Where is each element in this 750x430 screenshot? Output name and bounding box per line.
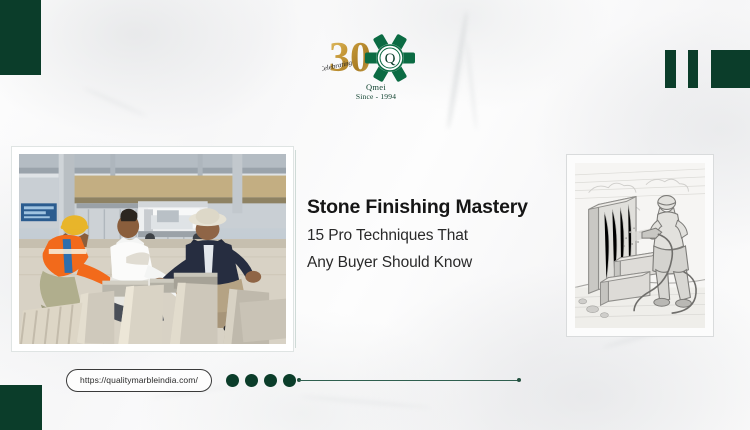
decorative-dot	[226, 374, 239, 387]
footer-rule	[299, 380, 519, 381]
photo-card	[11, 146, 294, 352]
logo-wordmark: Qmei Since - 1994	[322, 83, 430, 101]
rule-endpoint-right	[517, 378, 521, 382]
corner-block-bottom-left	[0, 385, 42, 430]
decorative-dot	[283, 374, 296, 387]
accent-bar-wide	[711, 50, 750, 88]
logo-artwork: 30 Celebrating Q	[322, 28, 430, 90]
accent-bar-narrow-2	[688, 50, 698, 88]
page-subtitle-line-2: Any Buyer Should Know	[307, 251, 539, 275]
headline-block: Stone Finishing Mastery 15 Pro Technique…	[307, 194, 539, 275]
website-url-pill[interactable]: https://qualitymarbleindia.com/	[66, 369, 212, 392]
accent-bar-narrow-1	[665, 50, 676, 88]
page-subtitle-line-1: 15 Pro Techniques That	[307, 224, 539, 248]
vertical-divider	[295, 150, 296, 348]
sketch-artwork	[575, 163, 705, 328]
page-title: Stone Finishing Mastery	[307, 194, 539, 221]
star-burst-emblem: Q	[365, 34, 415, 83]
dot-decoration-group	[226, 374, 296, 387]
poster-canvas: 30 Celebrating Q Qmei Since - 1994	[0, 0, 750, 430]
stone-inspection-photo	[19, 154, 286, 344]
brand-logo: 30 Celebrating Q Qmei Since - 1994	[322, 28, 430, 108]
logo-since-text: Since - 1994	[322, 93, 430, 101]
photo-artwork	[19, 154, 286, 344]
corner-block-top-left	[0, 0, 41, 75]
decorative-dot	[264, 374, 277, 387]
logo-monogram-q: Q	[385, 51, 396, 67]
decorative-dot	[245, 374, 258, 387]
sketch-card	[566, 154, 714, 337]
stone-sandblasting-sketch	[575, 163, 705, 328]
